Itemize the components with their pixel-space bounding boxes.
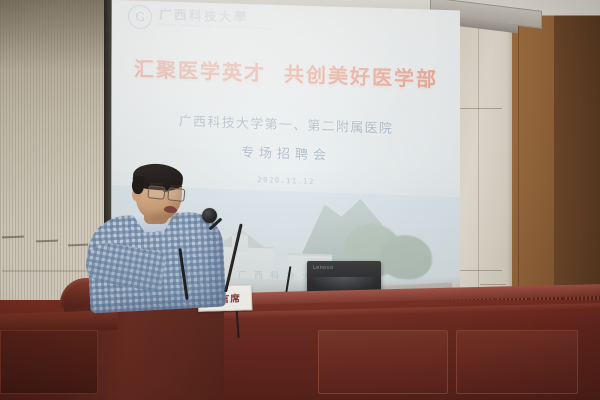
speaker-person: [88, 168, 228, 308]
monitor-brand-label: Lenovo: [313, 265, 333, 271]
left-wall-shading: [0, 0, 112, 70]
university-logo-en: GUANGXI UNIVERSITY OF SCIENCE AND TECHNO…: [159, 24, 275, 31]
university-logo: G 广西科技大學 GUANGXI UNIVERSITY OF SCIENCE A…: [128, 5, 275, 34]
mid-wall-panel: [452, 12, 512, 330]
slide-title-part1: 汇聚医学英才: [134, 57, 266, 86]
desk-front-panel: [318, 330, 448, 394]
eyeglasses-icon: [148, 185, 185, 200]
slide-subtitle-line2: 专场招聘会: [112, 137, 460, 168]
slide-subtitle-line1: 广西科技大学第一、第二附属医院: [112, 108, 460, 139]
slide-title-part2: 共创美好医学部: [284, 62, 438, 91]
podium-lower-panel: [0, 330, 98, 394]
desk-front-panel: [456, 330, 578, 394]
slide-title: 汇聚医学英才共创美好医学部: [112, 52, 460, 93]
speaker-chin-shadow: [150, 212, 180, 222]
university-logo-mark: G: [128, 5, 152, 30]
microphone-head: [202, 208, 217, 223]
lecture-hall-photo: G 广西科技大學 GUANGXI UNIVERSITY OF SCIENCE A…: [0, 0, 600, 400]
